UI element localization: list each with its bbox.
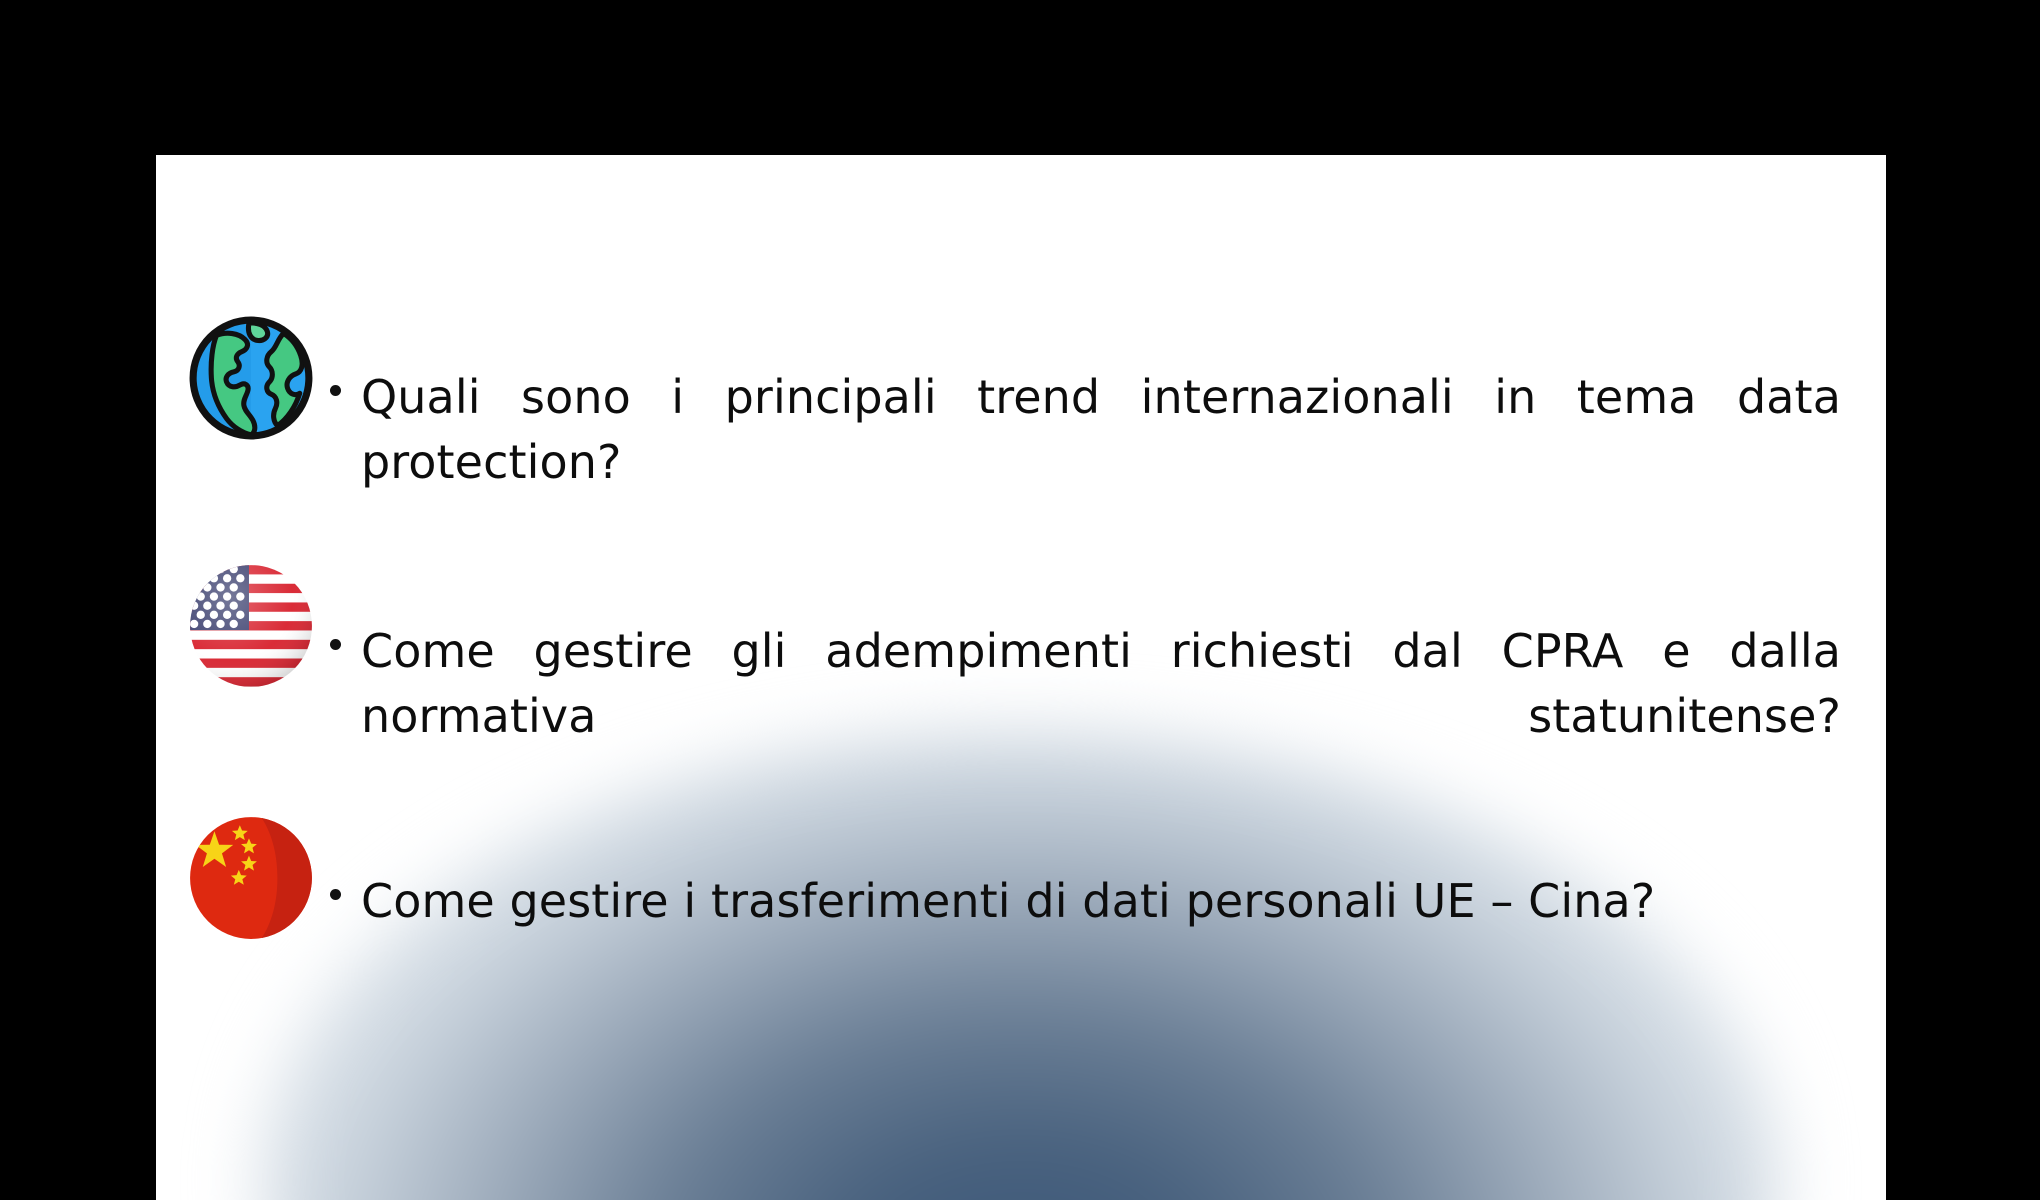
flag-china-icon-svg xyxy=(186,813,316,943)
globe-showing-americas-icon-svg xyxy=(186,313,316,443)
bullet-text: Quali sono i principali trend internazio… xyxy=(361,365,1841,561)
bullet-row: Come gestire gli adempimenti richiesti d… xyxy=(186,553,1876,815)
flag-united-states-icon xyxy=(186,561,316,691)
bullet-text: Come gestire gli adempimenti richiesti d… xyxy=(361,619,1841,815)
bullet-text: Come gestire i trasferimenti di dati per… xyxy=(361,869,1655,934)
globe-showing-americas-icon xyxy=(186,313,316,443)
flag-china-icon xyxy=(186,813,316,943)
bullet-point-icon xyxy=(330,889,341,900)
bullet-point-icon xyxy=(330,639,341,650)
bullet-row: Quali sono i principali trend internazio… xyxy=(186,303,1876,561)
bullet-point-icon xyxy=(330,385,341,396)
flag-united-states-icon-svg xyxy=(186,561,316,691)
bullet-row: Come gestire i trasferimenti di dati per… xyxy=(186,803,1876,943)
bullet-list: Quali sono i principali trend internazio… xyxy=(156,155,1886,1200)
bullet-text-block: Come gestire i trasferimenti di dati per… xyxy=(316,803,1876,934)
bullet-text-block: Quali sono i principali trend internazio… xyxy=(316,303,1876,561)
bullet-text-block: Come gestire gli adempimenti richiesti d… xyxy=(316,553,1876,815)
slide-canvas: Quali sono i principali trend internazio… xyxy=(156,155,1886,1200)
